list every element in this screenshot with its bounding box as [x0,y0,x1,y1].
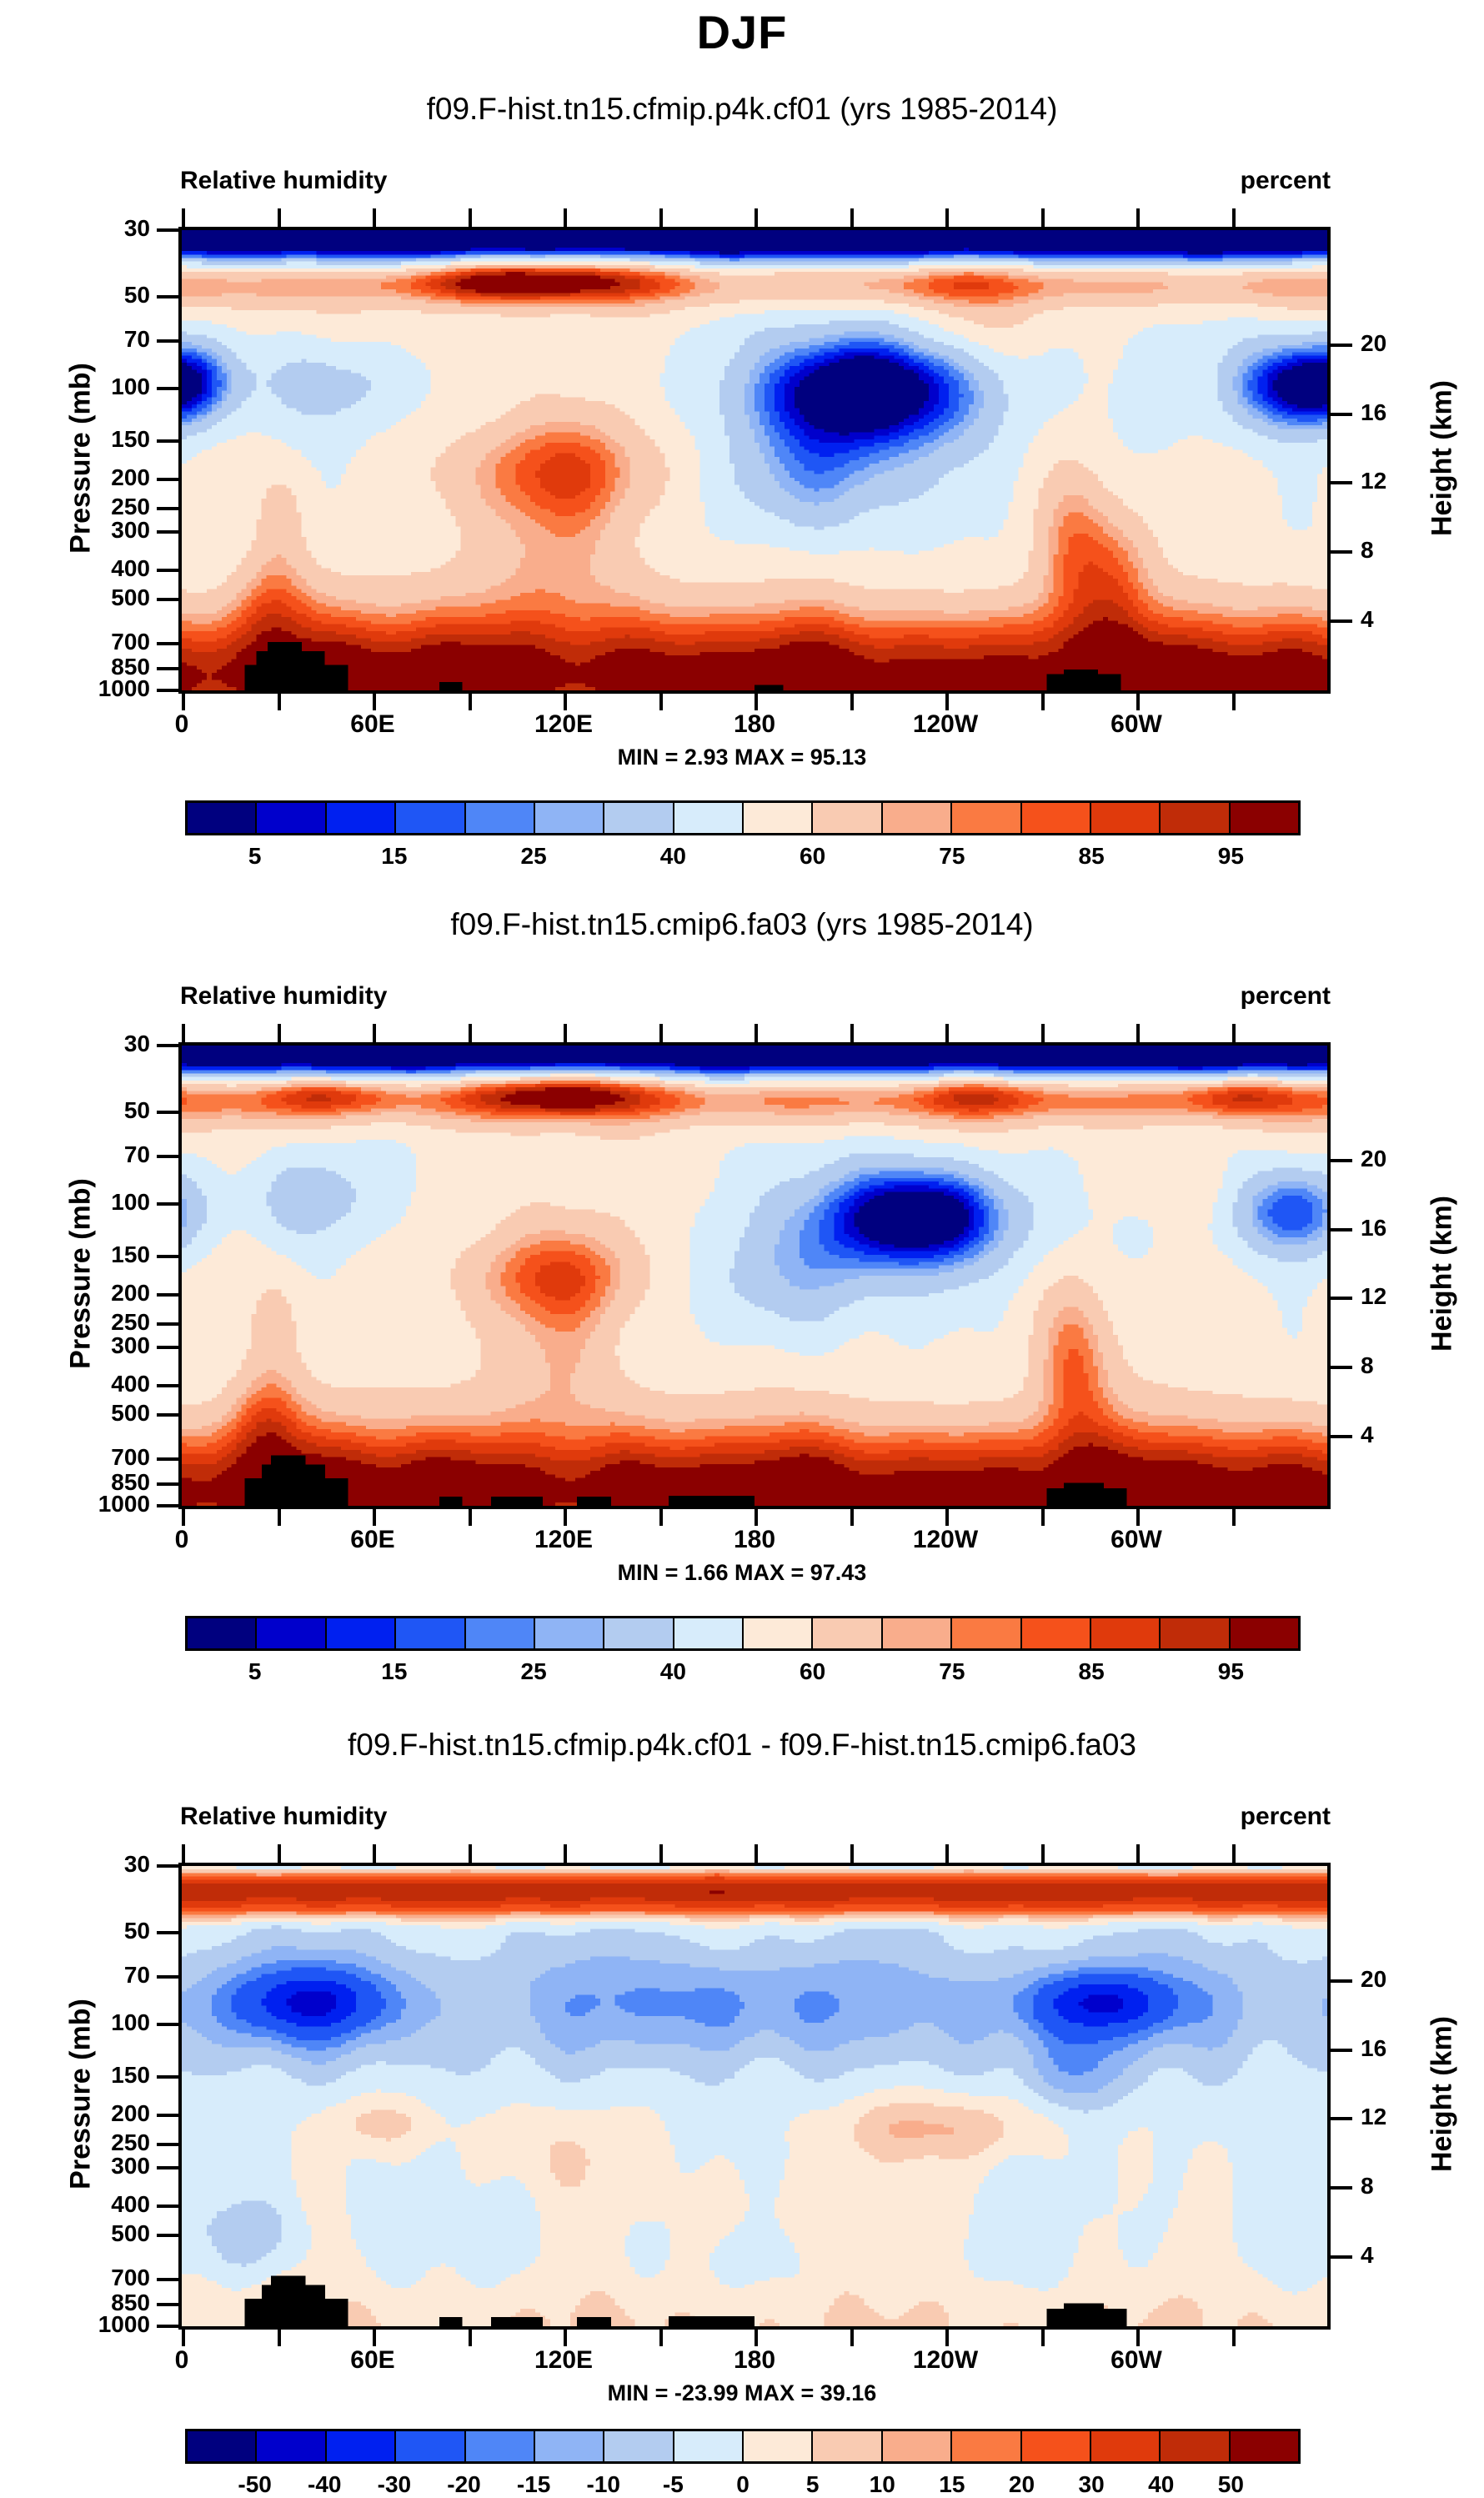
x-tick-mark [182,692,185,710]
colorbar-cell [327,2431,396,2461]
y-tick-mark [157,1293,182,1297]
panel-title-1: f09.F-hist.tn15.cfmip.p4k.cf01 (yrs 1985… [0,92,1484,127]
y-tick-mark [157,2166,182,2169]
x-tick-label: 60E [298,1526,448,1554]
y2-tick-mark [1327,344,1352,347]
colorbar-label: 75 [939,843,965,870]
y-tick-mark [157,1864,182,1868]
y-tick-mark [157,1255,182,1258]
colorbar-cell [1231,1618,1298,1648]
contour-plot-3 [178,1863,1331,2330]
colorbar-1 [185,800,1301,835]
x-tick-mark [945,1507,949,1526]
colorbar-cell [883,1618,952,1648]
x-tick-mark-top [1041,208,1045,227]
contour-plot-2 [178,1042,1331,1509]
x-tick-mark [755,692,758,710]
y-tick-mark [157,642,182,645]
y-tick-mark [157,598,182,601]
figure-root: DJF f09.F-hist.tn15.cfmip.p4k.cf01 (yrs … [0,0,1484,2480]
y-tick-label: 400 [0,2191,150,2218]
y2-tick-mark [1327,413,1352,416]
colorbar-cell [396,2431,465,2461]
y-tick-label: 300 [0,1332,150,1359]
x-tick-mark [182,1507,185,1526]
colorbar-cell [952,2431,1021,2461]
colorbar-cell [883,803,952,833]
y-tick-mark [157,295,182,298]
x-tick-mark-top [564,208,567,227]
y-tick-label: 50 [0,282,150,308]
x-tick-mark-top [755,208,758,227]
colorbar-cell [257,1618,326,1648]
y-tick-mark [157,2114,182,2117]
colorbar-cell [1091,1618,1161,1648]
x-tick-mark-top [182,208,185,227]
y-tick-label: 250 [0,1309,150,1336]
colorbar-label: 60 [800,1658,825,1685]
colorbar-cell [1231,2431,1298,2461]
x-tick-mark-top [1232,208,1236,227]
y-tick-mark [157,228,182,232]
y-tick-mark [157,689,182,692]
y2-tick-label: 16 [1361,399,1436,426]
y2-tick-mark [1327,1159,1352,1162]
y-tick-mark [157,2234,182,2237]
x-tick-label: 0 [107,2346,257,2375]
y-tick-mark [157,1346,182,1349]
y2-tick-mark [1327,1979,1352,1983]
y-tick-label: 700 [0,629,150,655]
y2-tick-label: 8 [1361,1352,1436,1379]
colorbar-label: 15 [381,843,407,870]
y-tick-mark [157,2023,182,2026]
y2-tick-mark [1327,481,1352,484]
colorbar-cell [952,803,1021,833]
colorbar-cell [535,2431,604,2461]
y2-tick-label: 4 [1361,2242,1436,2269]
x-tick-mark [278,1507,281,1526]
y-tick-mark [157,1457,182,1461]
y-tick-mark [157,507,182,510]
colorbar-label: 75 [939,1658,965,1685]
x-tick-label: 120W [870,710,1020,739]
colorbar-cell [674,2431,744,2461]
colorbar-cell [1161,803,1230,833]
y-tick-mark [157,1975,182,1979]
colorbar-cell [744,1618,813,1648]
colorbar-cell [257,2431,326,2461]
x-tick-label: 60E [298,2346,448,2375]
x-tick-mark [373,1507,376,1526]
colorbar-cell [257,803,326,833]
x-tick-label: 60E [298,710,448,739]
y-tick-mark [157,569,182,572]
min-max-text-3: MIN = -23.99 MAX = 39.16 [0,2380,1484,2406]
x-tick-mark [659,2328,663,2346]
colorbar-cell [396,1618,465,1648]
colorbar-label: -50 [238,2471,271,2498]
colorbar-label: 40 [1148,2471,1174,2498]
y-tick-mark [157,1384,182,1387]
variable-label-3: Relative humidity [180,1803,387,1831]
contour-plot-1 [178,227,1331,694]
colorbar-label: 10 [870,2471,895,2498]
y2-tick-label: 20 [1361,330,1436,357]
colorbar-label: 95 [1218,1658,1244,1685]
colorbar-cell [466,2431,535,2461]
colorbar-cell [1022,803,1091,833]
x-tick-label: 180 [679,2346,830,2375]
x-tick-mark-top [1041,1024,1045,1042]
colorbar-label: 5 [806,2471,820,2498]
x-tick-mark [850,692,854,710]
colorbar-label: 5 [248,1658,262,1685]
colorbar-label: -5 [663,2471,684,2498]
colorbar-cell [1091,803,1161,833]
colorbar-cell [1231,803,1298,833]
y2-tick-mark [1327,2049,1352,2052]
y-tick-mark [157,439,182,443]
colorbar-cell [1161,1618,1230,1648]
colorbar-label: 15 [381,1658,407,1685]
y2-tick-label: 16 [1361,2035,1436,2062]
y-tick-label: 30 [0,1031,150,1057]
colorbar-cell [466,1618,535,1648]
y-tick-label: 400 [0,555,150,582]
x-tick-label: 0 [107,710,257,739]
x-tick-mark [1041,1507,1045,1526]
x-tick-mark [1136,1507,1140,1526]
y-tick-mark [157,1155,182,1158]
x-tick-mark [945,2328,949,2346]
colorbar-cell [674,803,744,833]
y-tick-mark [157,2205,182,2208]
y-tick-mark [157,1322,182,1326]
min-max-text-2: MIN = 1.66 MAX = 97.43 [0,1560,1484,1586]
colorbar-cell [396,803,465,833]
x-tick-mark-top [945,1024,949,1042]
x-tick-mark [659,692,663,710]
units-label-2: percent [1206,982,1331,1011]
colorbar-label: 15 [939,2471,965,2498]
variable-label-1: Relative humidity [180,167,387,195]
x-tick-mark [1136,692,1140,710]
y-tick-label: 50 [0,1918,150,1944]
y-tick-label: 400 [0,1371,150,1397]
colorbar-cell [744,2431,813,2461]
y-axis-title-2: Pressure (mb) [65,1149,98,1399]
colorbar-cell [188,1618,257,1648]
colorbar-label: 5 [248,843,262,870]
y-tick-mark [157,1413,182,1417]
y-tick-label: 300 [0,2153,150,2179]
y2-tick-mark [1327,1228,1352,1231]
y-tick-label: 300 [0,517,150,544]
y-tick-label: 700 [0,1444,150,1471]
x-tick-mark-top [278,208,281,227]
colorbar-cell [813,803,882,833]
units-label-3: percent [1206,1803,1331,1831]
colorbar-cell [535,1618,604,1648]
y2-tick-label: 20 [1361,1966,1436,1993]
y-tick-mark [157,1111,182,1114]
y2-tick-label: 4 [1361,606,1436,633]
y-tick-label: 200 [0,464,150,491]
x-tick-mark-top [659,208,663,227]
y-axis-title-1: Pressure (mb) [65,334,98,584]
x-tick-mark [1232,2328,1236,2346]
x-tick-mark-top [1136,1844,1140,1863]
y2-tick-label: 8 [1361,537,1436,564]
colorbar-2 [185,1616,1301,1651]
x-tick-mark [278,2328,281,2346]
colorbar-label: -15 [517,2471,550,2498]
x-tick-label: 60W [1061,1526,1211,1554]
colorbar-cell [188,2431,257,2461]
x-tick-mark [755,2328,758,2346]
x-tick-mark-top [469,1844,472,1863]
x-tick-mark [945,692,949,710]
x-tick-mark-top [850,208,854,227]
colorbar-cell [1022,1618,1091,1648]
y-tick-label: 1000 [0,675,150,702]
y2-tick-label: 12 [1361,2104,1436,2130]
main-title: DJF [0,5,1484,59]
x-tick-mark-top [1232,1844,1236,1863]
colorbar-cell [466,803,535,833]
x-tick-mark [850,2328,854,2346]
colorbar-cell [327,803,396,833]
x-tick-label: 180 [679,710,830,739]
y2-tick-mark [1327,550,1352,554]
x-tick-mark-top [373,208,376,227]
colorbar-label: -40 [308,2471,341,2498]
y2-tick-mark [1327,2186,1352,2190]
colorbar-cell [327,1618,396,1648]
y2-tick-label: 20 [1361,1146,1436,1172]
y-tick-label: 150 [0,426,150,453]
x-tick-label: 120E [489,2346,639,2375]
x-tick-label: 120E [489,1526,639,1554]
x-tick-mark-top [659,1024,663,1042]
y-tick-label: 200 [0,2100,150,2127]
colorbar-cell [883,2431,952,2461]
y-tick-label: 500 [0,584,150,611]
x-tick-mark-top [469,1024,472,1042]
x-tick-mark [1232,692,1236,710]
y-tick-label: 1000 [0,2311,150,2338]
x-tick-mark [564,2328,567,2346]
y-tick-label: 1000 [0,1491,150,1517]
colorbar-cell [813,2431,882,2461]
x-tick-label: 120W [870,2346,1020,2375]
y-tick-mark [157,2325,182,2328]
y-tick-mark [157,1202,182,1206]
x-tick-mark [850,1507,854,1526]
y-tick-label: 100 [0,2009,150,2036]
y-tick-label: 700 [0,2265,150,2291]
y-tick-mark [157,1482,182,1486]
y-tick-label: 500 [0,2220,150,2247]
y-tick-mark [157,2075,182,2079]
y2-tick-mark [1327,619,1352,623]
x-tick-mark [182,2328,185,2346]
y-tick-label: 100 [0,374,150,400]
colorbar-cell [813,1618,882,1648]
y-tick-label: 30 [0,1851,150,1878]
x-tick-mark-top [1232,1024,1236,1042]
x-tick-mark [1136,2328,1140,2346]
y-tick-mark [157,2143,182,2146]
x-tick-mark-top [182,1844,185,1863]
colorbar-cell [604,2431,674,2461]
x-tick-mark [469,2328,472,2346]
y2-tick-mark [1327,1435,1352,1438]
x-tick-mark-top [755,1024,758,1042]
colorbar-label: 85 [1079,1658,1105,1685]
y-tick-mark [157,2278,182,2281]
y-tick-label: 70 [0,326,150,353]
x-tick-label: 120E [489,710,639,739]
y-tick-label: 70 [0,1141,150,1168]
x-tick-mark-top [945,1844,949,1863]
x-tick-mark [469,692,472,710]
colorbar-label: 40 [660,843,686,870]
x-tick-mark-top [1136,208,1140,227]
colorbar-label: 40 [660,1658,686,1685]
x-tick-mark-top [659,1844,663,1863]
colorbar-cell [604,1618,674,1648]
x-tick-mark-top [564,1844,567,1863]
x-tick-mark [1232,1507,1236,1526]
colorbar-label: 95 [1218,843,1244,870]
colorbar-label: 25 [521,1658,547,1685]
x-tick-mark [755,1507,758,1526]
x-tick-mark-top [1041,1844,1045,1863]
colorbar-cell [604,803,674,833]
colorbar-cell [1022,2431,1091,2461]
x-tick-mark [564,692,567,710]
y2-tick-mark [1327,2117,1352,2120]
x-tick-mark [469,1507,472,1526]
x-tick-mark-top [564,1024,567,1042]
colorbar-label: -10 [587,2471,620,2498]
y-tick-label: 200 [0,1280,150,1307]
y2-tick-label: 12 [1361,1283,1436,1310]
x-tick-mark [1041,2328,1045,2346]
variable-label-2: Relative humidity [180,982,387,1011]
colorbar-label: 0 [736,2471,750,2498]
x-tick-mark-top [469,208,472,227]
x-tick-mark [373,692,376,710]
y-tick-label: 250 [0,494,150,520]
colorbar-label: 20 [1009,2471,1035,2498]
x-tick-mark-top [278,1024,281,1042]
y-tick-label: 100 [0,1189,150,1216]
colorbar-label: 25 [521,843,547,870]
y-tick-label: 500 [0,1400,150,1427]
y-tick-label: 250 [0,2129,150,2156]
panel-title-2: f09.F-hist.tn15.cmip6.fa03 (yrs 1985-201… [0,907,1484,942]
y2-tick-label: 16 [1361,1215,1436,1241]
x-tick-mark [659,1507,663,1526]
colorbar-3 [185,2429,1301,2464]
colorbar-cell [1161,2431,1230,2461]
y-tick-mark [157,1931,182,1934]
x-tick-mark-top [373,1844,376,1863]
min-max-text-1: MIN = 2.93 MAX = 95.13 [0,745,1484,770]
x-tick-label: 180 [679,1526,830,1554]
x-tick-mark [564,1507,567,1526]
x-tick-label: 60W [1061,710,1211,739]
y2-tick-mark [1327,2255,1352,2259]
y2-tick-mark [1327,1297,1352,1300]
colorbar-cell [952,1618,1021,1648]
colorbar-label: 30 [1079,2471,1105,2498]
x-tick-mark-top [945,208,949,227]
y-tick-mark [157,339,182,343]
colorbar-cell [1091,2431,1161,2461]
x-tick-mark-top [755,1844,758,1863]
colorbar-cell [188,803,257,833]
y2-tick-label: 12 [1361,468,1436,494]
colorbar-label: -20 [447,2471,480,2498]
y-tick-mark [157,530,182,534]
y2-tick-mark [1327,1366,1352,1369]
colorbar-cell [535,803,604,833]
y-tick-mark [157,478,182,481]
x-tick-mark [278,692,281,710]
x-tick-mark [1041,692,1045,710]
y-tick-mark [157,387,182,390]
y-tick-label: 30 [0,215,150,242]
panel-title-3: f09.F-hist.tn15.cfmip.p4k.cf01 - f09.F-h… [0,1728,1484,1763]
y-tick-label: 70 [0,1962,150,1989]
colorbar-label: -30 [378,2471,411,2498]
y-axis-title-3: Pressure (mb) [65,1969,98,2220]
y-tick-label: 150 [0,1241,150,1268]
x-tick-mark-top [182,1024,185,1042]
colorbar-label: 85 [1079,843,1105,870]
colorbar-label: 60 [800,843,825,870]
colorbar-cell [674,1618,744,1648]
y-tick-mark [157,667,182,670]
y2-tick-label: 8 [1361,2173,1436,2200]
x-tick-mark-top [850,1844,854,1863]
y-tick-mark [157,1044,182,1047]
x-tick-mark-top [850,1024,854,1042]
y2-tick-label: 4 [1361,1422,1436,1448]
x-tick-mark-top [373,1024,376,1042]
x-tick-label: 60W [1061,2346,1211,2375]
x-tick-mark-top [278,1844,281,1863]
y-tick-mark [157,2303,182,2306]
y-tick-label: 150 [0,2062,150,2089]
x-tick-label: 120W [870,1526,1020,1554]
colorbar-label: 50 [1218,2471,1244,2498]
x-tick-label: 0 [107,1526,257,1554]
x-tick-mark [373,2328,376,2346]
x-tick-mark-top [1136,1024,1140,1042]
y-tick-label: 50 [0,1097,150,1124]
colorbar-cell [744,803,813,833]
y-tick-mark [157,1504,182,1507]
units-label-1: percent [1206,167,1331,195]
